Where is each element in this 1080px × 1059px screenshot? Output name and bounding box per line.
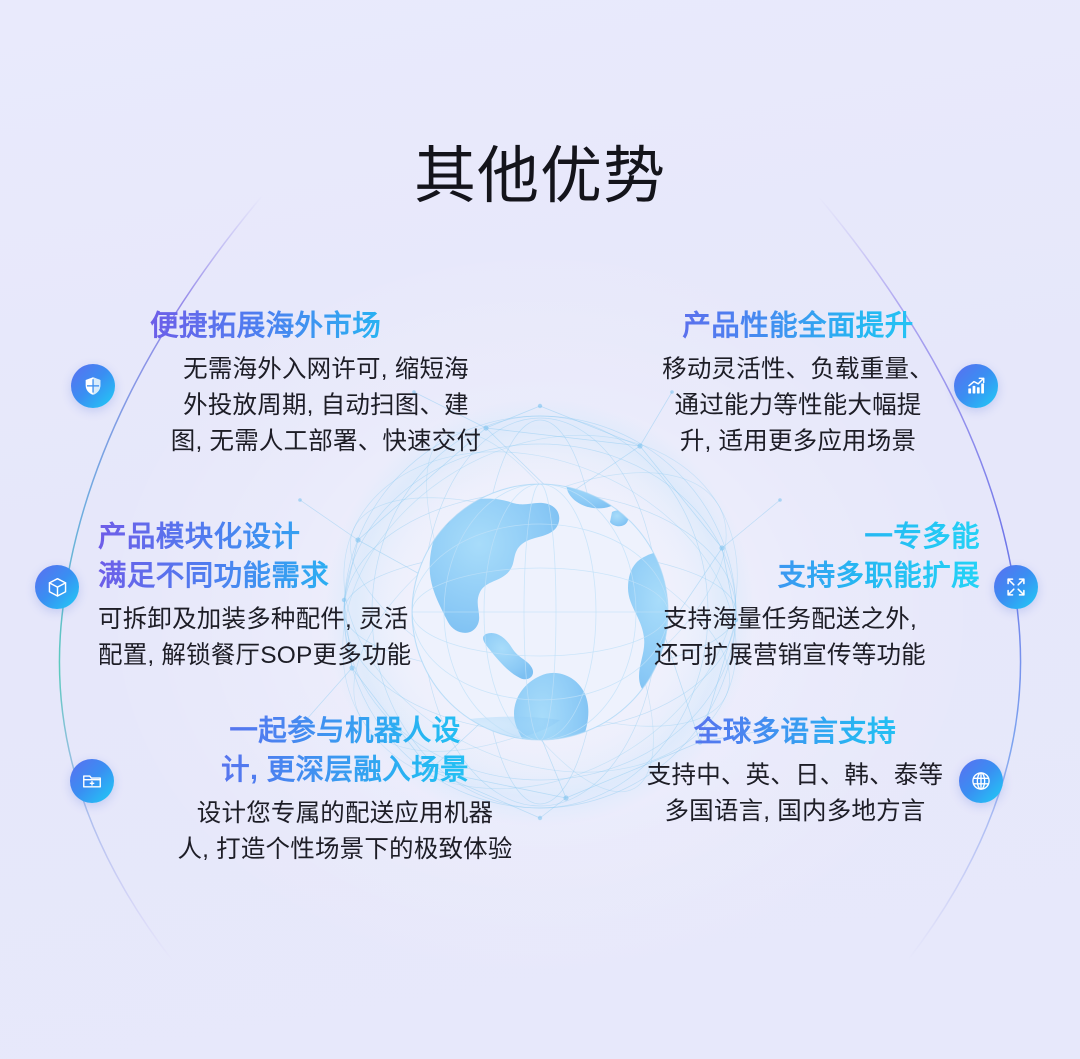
- body-line: 升, 适用更多应用场景: [618, 424, 978, 460]
- feature-block-multirole: 一专多能 支持多职能扩展 支持海量任务配送之外, 还可扩展营销宣传等功能: [600, 518, 980, 674]
- body-line: 支持海量任务配送之外,: [600, 602, 980, 638]
- expand-arrows-icon-badge: [994, 565, 1038, 609]
- folder-plus-icon: [81, 770, 103, 792]
- feature-block-codesign: 一起参与机器人设 计, 更深层融入场景 设计您专属的配送应用机器 人, 打造个性…: [130, 712, 560, 868]
- body-line: 支持中、英、日、韩、泰等: [612, 758, 978, 794]
- body-line: 无需海外入网许可, 缩短海: [146, 352, 506, 388]
- page-title: 其他优势: [0, 146, 1080, 208]
- body-line: 外投放周期, 自动扫图、建: [146, 388, 506, 424]
- expand-arrows-icon: [1005, 576, 1027, 598]
- advantages-infographic: 其他优势 便捷拓展海外市场 无需海外入网许可, 缩短海 外投放周期, 自动扫图、…: [0, 0, 1080, 1059]
- cube-icon: [46, 576, 69, 599]
- heading-line: 计, 更深层融入场景: [130, 751, 560, 790]
- feature-block-performance: 产品性能全面提升 移动灵活性、负载重量、 通过能力等性能大幅提 升, 适用更多应…: [618, 306, 978, 460]
- growth-chart-icon-badge: [954, 364, 998, 408]
- feature-block-overseas: 便捷拓展海外市场 无需海外入网许可, 缩短海 外投放周期, 自动扫图、建 图, …: [146, 306, 506, 460]
- feature-body-performance: 移动灵活性、负载重量、 通过能力等性能大幅提 升, 适用更多应用场景: [618, 352, 978, 460]
- body-line: 人, 打造个性场景下的极致体验: [130, 832, 560, 868]
- feature-body-overseas: 无需海外入网许可, 缩短海 外投放周期, 自动扫图、建 图, 无需人工部署、快速…: [146, 352, 506, 460]
- folder-plus-icon-badge: [70, 759, 114, 803]
- body-line: 配置, 解锁餐厅SOP更多功能: [98, 638, 470, 674]
- feature-heading-codesign: 一起参与机器人设 计, 更深层融入场景: [130, 712, 560, 790]
- heading-line: 全球多语言支持: [612, 712, 978, 752]
- feature-body-multirole: 支持海量任务配送之外, 还可扩展营销宣传等功能: [600, 602, 980, 674]
- feature-body-language: 支持中、英、日、韩、泰等 多国语言, 国内多地方言: [612, 758, 978, 830]
- feature-heading-performance: 产品性能全面提升: [618, 306, 978, 346]
- body-line: 可拆卸及加装多种配件, 灵活: [98, 602, 470, 638]
- feature-heading-multirole: 一专多能 支持多职能扩展: [600, 518, 980, 596]
- body-line: 通过能力等性能大幅提: [618, 388, 978, 424]
- body-line: 还可扩展营销宣传等功能: [600, 638, 980, 674]
- body-line: 图, 无需人工部署、快速交付: [146, 424, 506, 460]
- shield-icon-badge: [71, 364, 115, 408]
- heading-line: 满足不同功能需求: [98, 557, 470, 596]
- body-line: 移动灵活性、负载重量、: [618, 352, 978, 388]
- heading-line: 一专多能: [600, 518, 980, 557]
- feature-block-modular: 产品模块化设计 满足不同功能需求 可拆卸及加装多种配件, 灵活 配置, 解锁餐厅…: [98, 518, 470, 674]
- heading-line: 一起参与机器人设: [130, 712, 560, 751]
- shield-icon: [82, 375, 104, 397]
- heading-line: 产品模块化设计: [98, 518, 470, 557]
- feature-body-codesign: 设计您专属的配送应用机器 人, 打造个性场景下的极致体验: [130, 796, 560, 868]
- cube-icon-badge: [35, 565, 79, 609]
- heading-line: 便捷拓展海外市场: [150, 306, 506, 346]
- body-line: 多国语言, 国内多地方言: [612, 794, 978, 830]
- feature-heading-overseas: 便捷拓展海外市场: [146, 306, 506, 346]
- globe-icon: [970, 770, 992, 792]
- feature-heading-modular: 产品模块化设计 满足不同功能需求: [98, 518, 470, 596]
- feature-body-modular: 可拆卸及加装多种配件, 灵活 配置, 解锁餐厅SOP更多功能: [98, 602, 470, 674]
- feature-block-language: 全球多语言支持 支持中、英、日、韩、泰等 多国语言, 国内多地方言: [612, 712, 978, 830]
- feature-heading-language: 全球多语言支持: [612, 712, 978, 752]
- body-line: 设计您专属的配送应用机器: [130, 796, 560, 832]
- heading-line: 产品性能全面提升: [618, 306, 978, 346]
- heading-line: 支持多职能扩展: [600, 557, 980, 596]
- globe-icon-badge: [959, 759, 1003, 803]
- growth-chart-icon: [965, 375, 987, 397]
